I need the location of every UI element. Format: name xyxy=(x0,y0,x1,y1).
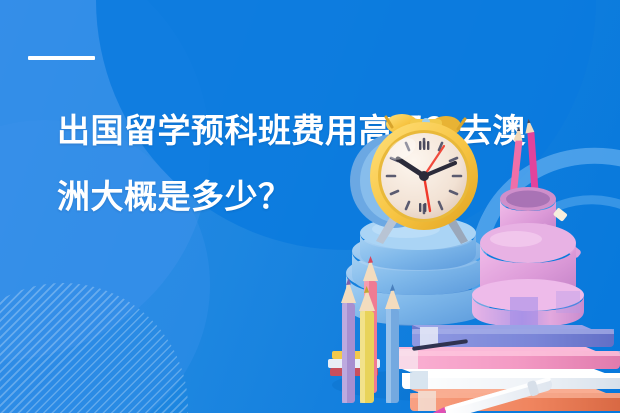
book-white xyxy=(402,369,620,389)
study-supplies-illustration xyxy=(294,113,620,413)
banner: 出国留学预科班费用高吗？去澳 洲大概是多少？ xyxy=(0,0,620,413)
accent-rule xyxy=(28,56,95,60)
pencil-purple xyxy=(341,278,356,403)
pen-holder xyxy=(472,119,584,327)
